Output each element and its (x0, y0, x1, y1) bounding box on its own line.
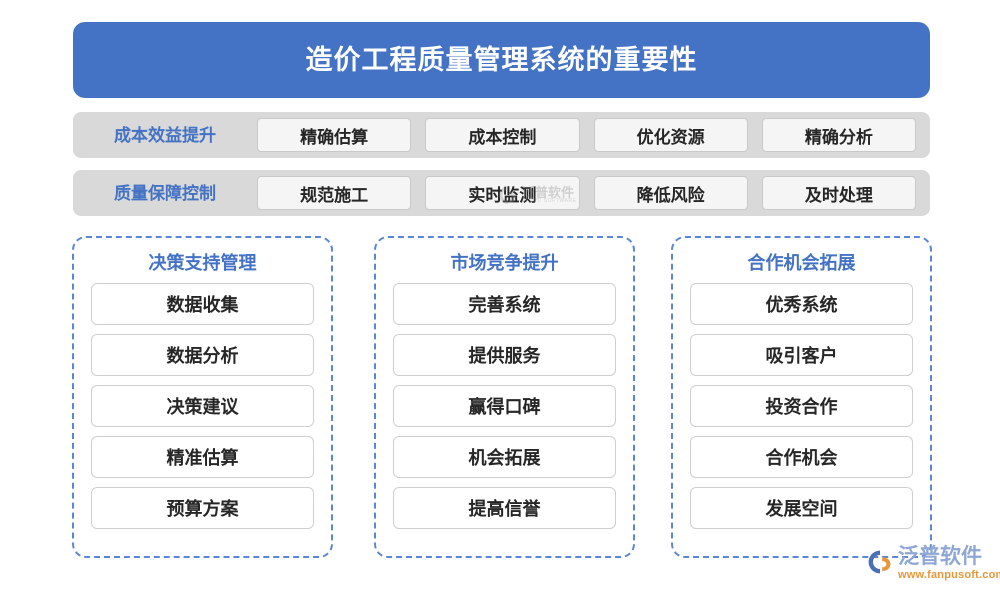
card-title: 合作机会拓展 (748, 254, 856, 272)
brand-url: www.fanpusoft.com (898, 570, 1000, 581)
category-row-label: 成本效益提升 (73, 127, 257, 144)
card-item-box[interactable]: 精准估算 (91, 436, 314, 478)
row-item-box[interactable]: 实时监测 (425, 176, 579, 210)
category-row-quality-assurance: 质量保障控制 规范施工 实时监测 降低风险 及时处理 (73, 170, 930, 216)
card-item-box[interactable]: 吸引客户 (690, 334, 913, 376)
brand-name-cn: 泛普软件 (898, 546, 1000, 567)
card-item-box[interactable]: 投资合作 (690, 385, 913, 427)
card-market-competitiveness: 市场竞争提升 完善系统 提供服务 赢得口碑 机会拓展 提高信誉 (374, 236, 635, 558)
row-item-box[interactable]: 优化资源 (594, 118, 748, 152)
category-row-label: 质量保障控制 (73, 185, 257, 202)
card-item-box[interactable]: 机会拓展 (393, 436, 616, 478)
row-item-box[interactable]: 精确分析 (762, 118, 916, 152)
row-item-box[interactable]: 降低风险 (594, 176, 748, 210)
card-item-box[interactable]: 预算方案 (91, 487, 314, 529)
brand-logo: 泛普软件 www.fanpusoft.com (866, 546, 992, 590)
card-item-box[interactable]: 提高信誉 (393, 487, 616, 529)
card-item-box[interactable]: 发展空间 (690, 487, 913, 529)
card-decision-support: 决策支持管理 数据收集 数据分析 决策建议 精准估算 预算方案 (72, 236, 333, 558)
brand-text: 泛普软件 www.fanpusoft.com (898, 546, 1000, 581)
card-item-box[interactable]: 数据收集 (91, 283, 314, 325)
card-item-box[interactable]: 决策建议 (91, 385, 314, 427)
card-title: 市场竞争提升 (451, 254, 559, 272)
card-item-box[interactable]: 赢得口碑 (393, 385, 616, 427)
card-item-box[interactable]: 完善系统 (393, 283, 616, 325)
category-row-items: 规范施工 实时监测 降低风险 及时处理 (257, 176, 930, 210)
card-item-box[interactable]: 优秀系统 (690, 283, 913, 325)
row-item-box[interactable]: 规范施工 (257, 176, 411, 210)
page-title: 造价工程质量管理系统的重要性 (306, 47, 698, 74)
card-item-box[interactable]: 数据分析 (91, 334, 314, 376)
card-items: 数据收集 数据分析 决策建议 精准估算 预算方案 (74, 283, 331, 529)
card-item-box[interactable]: 合作机会 (690, 436, 913, 478)
card-title: 决策支持管理 (149, 254, 257, 272)
card-item-box[interactable]: 提供服务 (393, 334, 616, 376)
row-item-box[interactable]: 成本控制 (425, 118, 579, 152)
fanpu-logo-icon (866, 548, 894, 576)
row-item-box[interactable]: 及时处理 (762, 176, 916, 210)
card-items: 优秀系统 吸引客户 投资合作 合作机会 发展空间 (673, 283, 930, 529)
row-item-box[interactable]: 精确估算 (257, 118, 411, 152)
infographic-canvas: 造价工程质量管理系统的重要性 成本效益提升 精确估算 成本控制 优化资源 精确分… (0, 0, 1000, 600)
category-row-cost-benefit: 成本效益提升 精确估算 成本控制 优化资源 精确分析 (73, 112, 930, 158)
card-items: 完善系统 提供服务 赢得口碑 机会拓展 提高信誉 (376, 283, 633, 529)
category-row-items: 精确估算 成本控制 优化资源 精确分析 (257, 118, 930, 152)
header-banner: 造价工程质量管理系统的重要性 (73, 22, 930, 98)
card-cooperation-opportunity: 合作机会拓展 优秀系统 吸引客户 投资合作 合作机会 发展空间 (671, 236, 932, 558)
